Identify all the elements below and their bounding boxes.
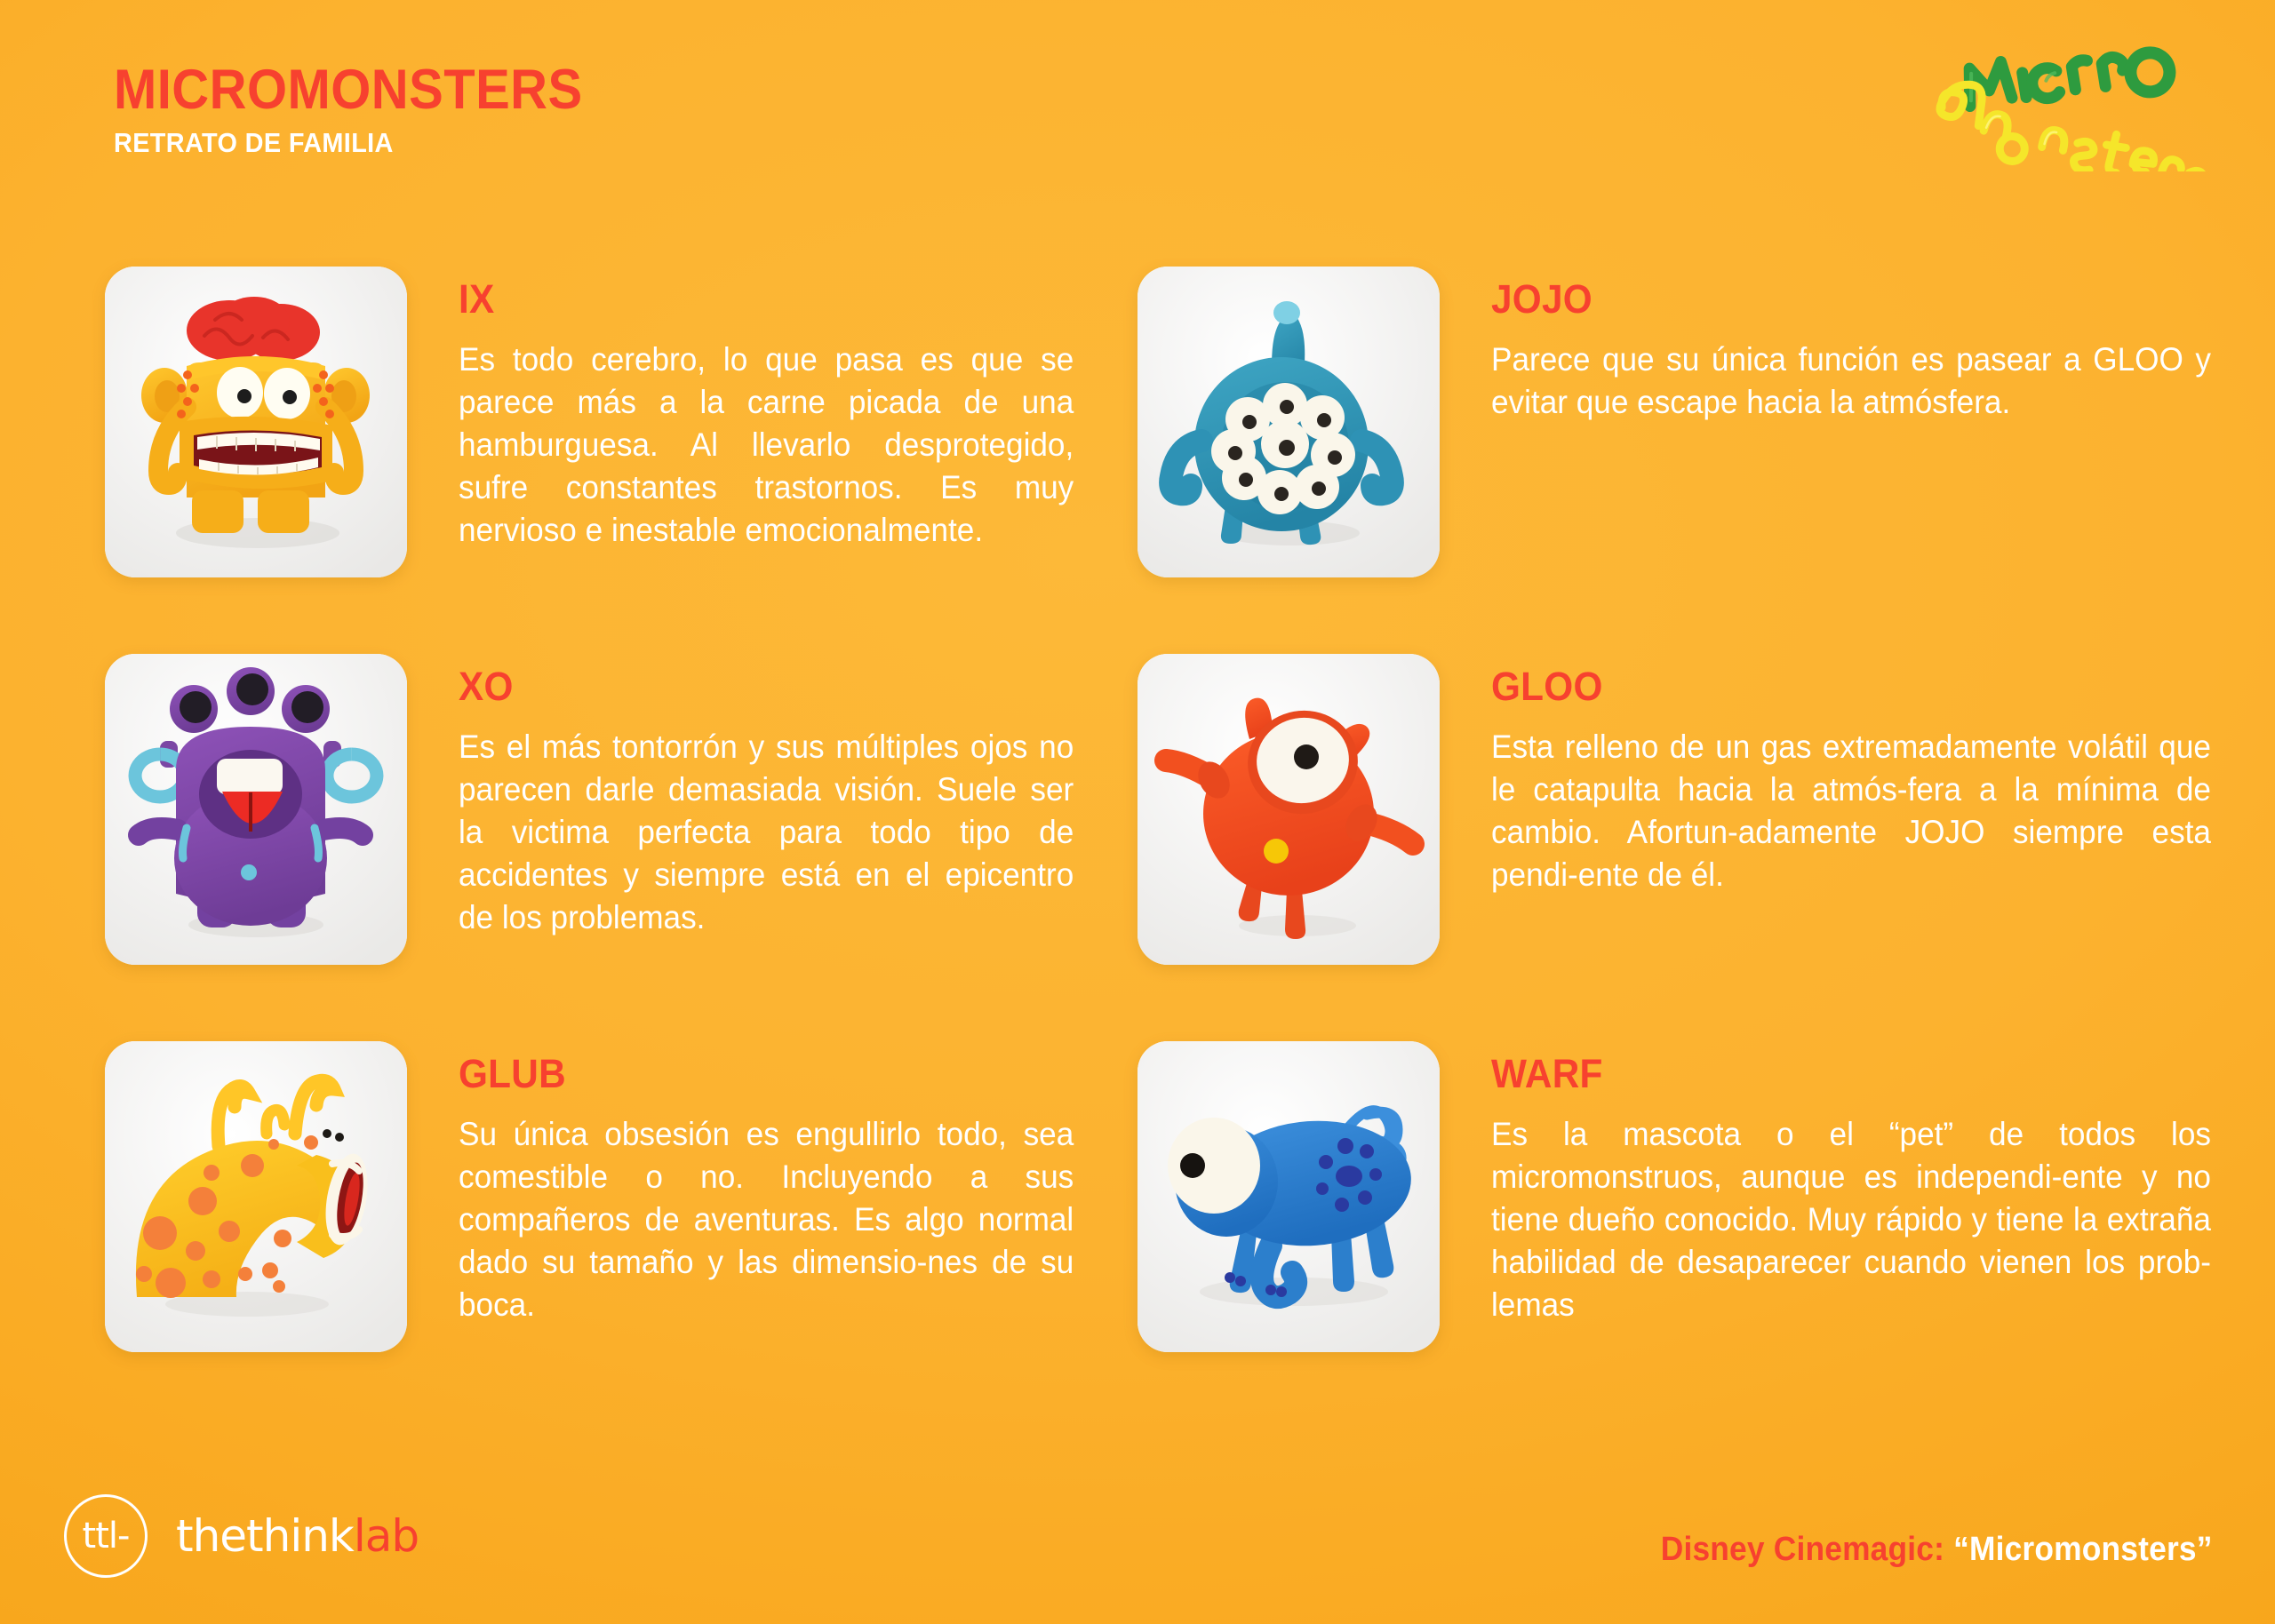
monster-card-ix: IX Es todo cerebro, lo que pasa es que s… <box>0 267 1137 654</box>
monster-name: IX <box>459 279 1038 319</box>
monster-name: GLOO <box>1491 666 2169 706</box>
monster-name: GLUB <box>459 1054 1038 1094</box>
monster-name: XO <box>459 666 1038 706</box>
page-title: MICROMONSTERS <box>114 62 583 118</box>
monster-card-jojo: JOJO Parece que su única función es pase… <box>1137 267 2275 654</box>
credit-source: Disney Cinemagic: <box>1661 1531 1944 1568</box>
warf-clay-figure <box>1137 1041 1440 1352</box>
monster-description: Es todo cerebro, lo que pasa es que se p… <box>459 338 1074 552</box>
monster-card-warf: WARF Es la mascota o el “pet” de todos l… <box>1137 1041 2275 1459</box>
monster-name: WARF <box>1491 1054 2169 1094</box>
credit-line: Disney Cinemagic: “Micromonsters” <box>1661 1531 2213 1569</box>
monster-text: IX Es todo cerebro, lo que pasa es que s… <box>407 267 1137 552</box>
monster-description: Su única obsesión es engullirlo todo, se… <box>459 1113 1074 1326</box>
monster-name: JOJO <box>1491 279 2169 319</box>
wordmark-thethink: thethink <box>176 1510 354 1562</box>
thethinklab-wordmark: thethinklab <box>176 1510 419 1562</box>
wordmark-lab: lab <box>354 1510 419 1562</box>
gloo-clay-figure <box>1137 654 1440 965</box>
ix-clay-figure <box>105 267 407 577</box>
thumbnail-wrapper <box>1137 654 1440 965</box>
page-header: MICROMONSTERS RETRATO DE FAMILIA <box>114 62 624 156</box>
credit-show-title: “Micromonsters” <box>1954 1531 2213 1568</box>
monster-description: Esta relleno de un gas extremadamente vo… <box>1491 726 2211 896</box>
monster-card-gloo: GLOO Esta relleno de un gas extremadamen… <box>1137 654 2275 1041</box>
micromonsters-clay-logo <box>1933 25 2226 171</box>
monster-text: WARF Es la mascota o el “pet” de todos l… <box>1440 1041 2275 1326</box>
monster-description: Es la mascota o el “pet” de todos los mi… <box>1491 1113 2211 1326</box>
thumbnail-wrapper <box>105 654 407 965</box>
monster-card-glub: GLUB Su única obsesión es engullirlo tod… <box>0 1041 1137 1459</box>
monster-description: Es el más tontorrón y sus múltiples ojos… <box>459 726 1074 939</box>
monster-card-xo: XO Es el más tontorrón y sus múltiples o… <box>0 654 1137 1041</box>
monster-description: Parece que su única función es pasear a … <box>1491 338 2211 424</box>
monster-grid: IX Es todo cerebro, lo que pasa es que s… <box>0 267 2275 1459</box>
monster-text: GLUB Su única obsesión es engullirlo tod… <box>407 1041 1137 1326</box>
thumbnail-wrapper <box>105 1041 407 1352</box>
glub-clay-figure <box>105 1041 407 1352</box>
jojo-clay-figure <box>1137 267 1440 577</box>
ttl-monogram: ttl- <box>64 1494 148 1578</box>
monster-text: JOJO Parece que su única función es pase… <box>1440 267 2275 424</box>
page-subtitle: RETRATO DE FAMILIA <box>114 129 587 156</box>
thumbnail-wrapper <box>105 267 407 577</box>
xo-clay-figure <box>105 654 407 965</box>
thumbnail-wrapper <box>1137 267 1440 577</box>
thumbnail-wrapper <box>1137 1041 1440 1352</box>
monster-text: GLOO Esta relleno de un gas extremadamen… <box>1440 654 2275 896</box>
monster-text: XO Es el más tontorrón y sus múltiples o… <box>407 654 1137 939</box>
thethinklab-logo[interactable]: ttl- thethinklab <box>64 1494 419 1578</box>
